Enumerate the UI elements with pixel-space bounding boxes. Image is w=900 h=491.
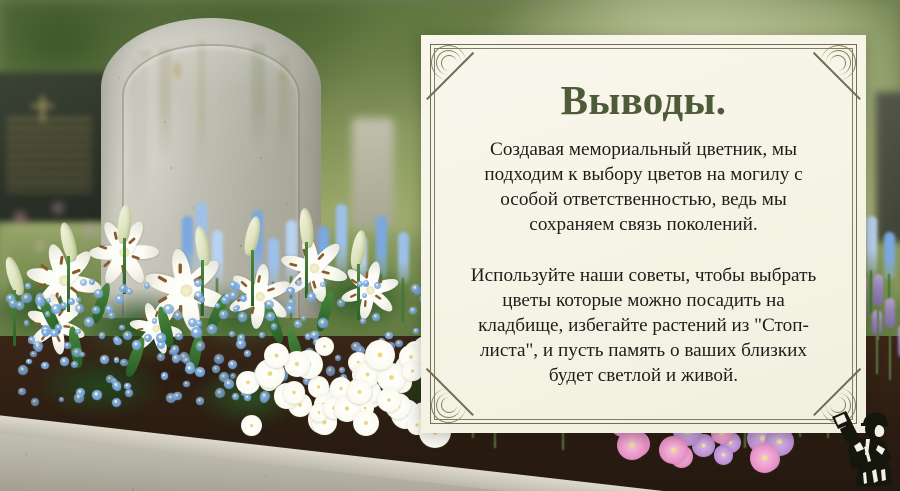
forget-me-not-flower	[30, 351, 36, 357]
forget-me-not-flower	[75, 304, 84, 313]
pink-petunia	[617, 430, 647, 460]
forget-me-not-flower	[144, 282, 150, 288]
forget-me-not-flower	[310, 331, 318, 339]
forget-me-not-flower	[238, 312, 247, 321]
forget-me-not-flower	[260, 391, 270, 401]
lily-stem	[357, 264, 360, 320]
forget-me-not-flower	[295, 279, 302, 286]
text-card: Выводы. Создавая мемориальный цветник, м…	[421, 35, 866, 433]
lily-center	[179, 283, 192, 296]
forget-me-not-flower	[115, 294, 124, 303]
forget-me-not-flower	[112, 381, 121, 390]
screenshot-canvas: Выводы. Создавая мемориальный цветник, м…	[0, 0, 900, 491]
lavender-stem	[877, 302, 879, 340]
forget-me-not-flower	[94, 289, 103, 298]
forget-me-not-flower	[106, 375, 114, 383]
forget-me-not-flower	[395, 340, 403, 348]
forget-me-not-flower	[18, 388, 25, 395]
forget-me-not-flower	[212, 365, 220, 373]
forget-me-not-flower	[194, 279, 202, 287]
lily-anther	[364, 300, 367, 307]
forget-me-not-flower	[196, 320, 203, 327]
forget-me-not-flower	[126, 288, 133, 295]
delphinium-spire	[884, 232, 895, 280]
forget-me-not-flower	[233, 306, 239, 312]
forget-me-not-flower	[320, 282, 325, 287]
forget-me-not-flower	[219, 310, 228, 319]
forget-me-not-flower	[35, 295, 45, 305]
forget-me-not-flower	[229, 331, 235, 337]
forget-me-not-flower	[60, 357, 68, 365]
forget-me-not-flower	[156, 333, 165, 342]
forget-me-not-flower	[229, 281, 237, 289]
forget-me-not-flower	[409, 307, 416, 314]
forget-me-not-flower	[305, 333, 311, 339]
white-petunia	[402, 361, 422, 381]
forget-me-not-flower	[113, 336, 120, 343]
forget-me-not-flower	[114, 357, 119, 362]
forget-me-not-flower	[173, 392, 181, 400]
white-petunia	[283, 381, 306, 404]
forget-me-not-flower	[51, 304, 60, 313]
forget-me-not-flower	[271, 323, 277, 329]
delphinium-stem	[402, 278, 404, 322]
headstone-inscription-plaque	[6, 118, 92, 192]
lily-stem	[251, 250, 254, 306]
forget-me-not-flower	[357, 281, 363, 287]
forget-me-not-flower	[214, 354, 224, 364]
forget-me-not-flower	[185, 364, 195, 374]
card-paragraph-2: Используйте наши советы, чтобы выбрать ц…	[458, 264, 830, 389]
pink-petunia	[659, 436, 687, 464]
delphinium-stem	[870, 270, 872, 314]
forget-me-not-flower	[163, 304, 173, 314]
lily-anther	[179, 264, 183, 274]
delphinium-spire	[866, 216, 877, 276]
forget-me-not-flower	[215, 388, 225, 398]
card-content: Выводы. Создавая мемориальный цветник, м…	[447, 57, 840, 411]
forget-me-not-flower	[24, 320, 30, 326]
forget-me-not-flower	[286, 287, 294, 295]
forget-me-not-flower	[112, 398, 121, 407]
forget-me-not-flower	[55, 324, 62, 331]
forget-me-not-flower	[301, 316, 306, 321]
forget-me-not-flower	[76, 297, 81, 302]
white-petunia	[264, 343, 289, 368]
forget-me-not-flower	[385, 332, 393, 340]
lily-stem	[305, 242, 308, 298]
forget-me-not-flower	[198, 369, 204, 375]
forget-me-not-flower	[41, 362, 48, 369]
forget-me-not-flower	[238, 334, 245, 341]
forget-me-not-flower	[75, 329, 81, 335]
forget-me-not-flower	[119, 325, 124, 330]
forget-me-not-flower	[152, 318, 157, 323]
forget-me-not-flower	[196, 397, 204, 405]
forget-me-not-flower	[411, 284, 420, 293]
white-petunia	[241, 415, 262, 436]
forget-me-not-flower	[413, 328, 419, 334]
forget-me-not-flower	[45, 311, 50, 316]
lily-stem	[201, 260, 204, 316]
forget-me-not-flower	[171, 345, 179, 353]
forget-me-not-flower	[174, 311, 183, 320]
pink-petunia	[714, 445, 733, 464]
forget-me-not-flower	[244, 350, 251, 357]
white-petunia	[365, 340, 395, 370]
forget-me-not-flower	[161, 372, 169, 380]
forget-me-not-flower	[318, 318, 327, 327]
forget-me-not-flower	[92, 390, 102, 400]
forget-me-not-flower	[132, 340, 142, 350]
forget-me-not-flower	[259, 332, 265, 338]
forget-me-not-flower	[374, 282, 381, 289]
stonemason-logo	[828, 405, 894, 489]
white-lily	[337, 257, 404, 324]
forget-me-not-flower	[196, 341, 205, 350]
card-title: Выводы.	[561, 79, 727, 122]
lavender-stem	[889, 324, 891, 380]
lily-anther	[34, 322, 41, 325]
forget-me-not-flower	[84, 317, 94, 327]
forget-me-not-flower	[264, 300, 274, 310]
forget-me-not-flower	[18, 365, 28, 375]
forget-me-not-flower	[326, 366, 336, 376]
lavender-spike	[885, 298, 895, 328]
forget-me-not-flower	[71, 361, 78, 368]
forget-me-not-flower	[307, 292, 316, 301]
forget-me-not-flower	[335, 355, 341, 361]
forget-me-not-flower	[74, 393, 84, 403]
card-paragraph-1: Создавая мемориальный цветник, мы подход…	[458, 138, 830, 238]
lavender-spike	[873, 274, 883, 306]
forget-me-not-flower	[92, 306, 99, 313]
white-petunia	[377, 388, 401, 412]
forget-me-not-flower	[183, 381, 189, 387]
forget-me-not-flower	[191, 327, 201, 337]
forget-me-not-flower	[175, 333, 183, 341]
forget-me-not-flower	[230, 373, 236, 379]
forget-me-not-flower	[294, 320, 302, 328]
